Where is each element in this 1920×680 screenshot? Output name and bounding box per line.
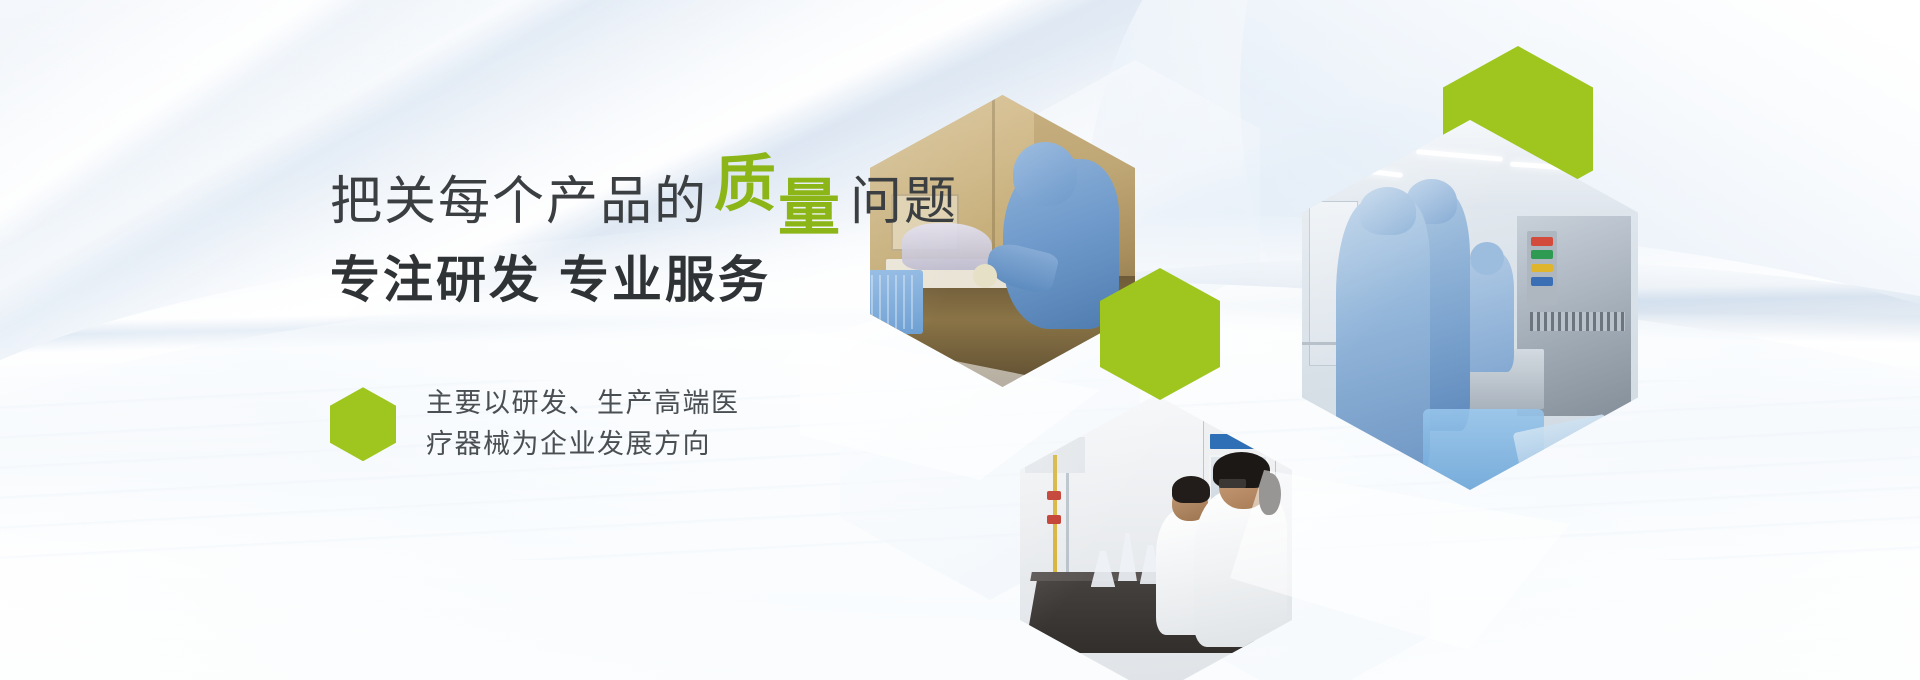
background-floor-horizon: [0, 191, 1920, 467]
headline-accent-2: 量: [778, 183, 840, 236]
banner-headline-primary: 把关每个产品的 质 量 问题: [330, 175, 950, 228]
background-wall-right-2: [1240, 0, 1920, 540]
headline-part-2: 问题: [850, 176, 958, 228]
banner-copy: 把关每个产品的 质 量 问题 专注研发 专业服务 主要以研发、生产高端医 疗器械…: [330, 175, 950, 465]
banner-headline-secondary: 专注研发 专业服务: [330, 252, 950, 310]
hexagon-photo-laboratory-testing: [1020, 395, 1292, 680]
hexagon-blend-wedge: [1230, 470, 1570, 650]
hexagon-ghost-icon: [1180, 430, 1430, 680]
banner-subtitle: 主要以研发、生产高端医 疗器械为企业发展方向: [426, 383, 740, 465]
subtitle-line-2: 疗器械为企业发展方向: [426, 424, 740, 465]
hexagon-green-small-icon: [1100, 268, 1220, 400]
hexagon-photo-cluster: [0, 0, 1920, 680]
background-floor-sheen: [0, 280, 1920, 680]
background-floor-streaks: [0, 380, 1920, 560]
headline-part-1: 把关每个产品的: [330, 176, 708, 228]
hexagon-photo-cleanroom-production-line: [1302, 120, 1638, 490]
background-abstract: [0, 0, 1920, 680]
headline-accent-1: 质: [714, 159, 776, 212]
hexagon-bullet-icon: [330, 387, 396, 461]
subtitle-line-1: 主要以研发、生产高端医: [426, 383, 740, 424]
banner-subtitle-row: 主要以研发、生产高端医 疗器械为企业发展方向: [330, 383, 950, 465]
background-floor: [0, 350, 1920, 680]
hero-banner: 把关每个产品的 质 量 问题 专注研发 专业服务 主要以研发、生产高端医 疗器械…: [0, 0, 1920, 680]
hexagon-ghost-icon: [1010, 60, 1260, 335]
background-wall-right: [989, 0, 1920, 680]
hexagon-green-top-icon: [1443, 46, 1593, 212]
